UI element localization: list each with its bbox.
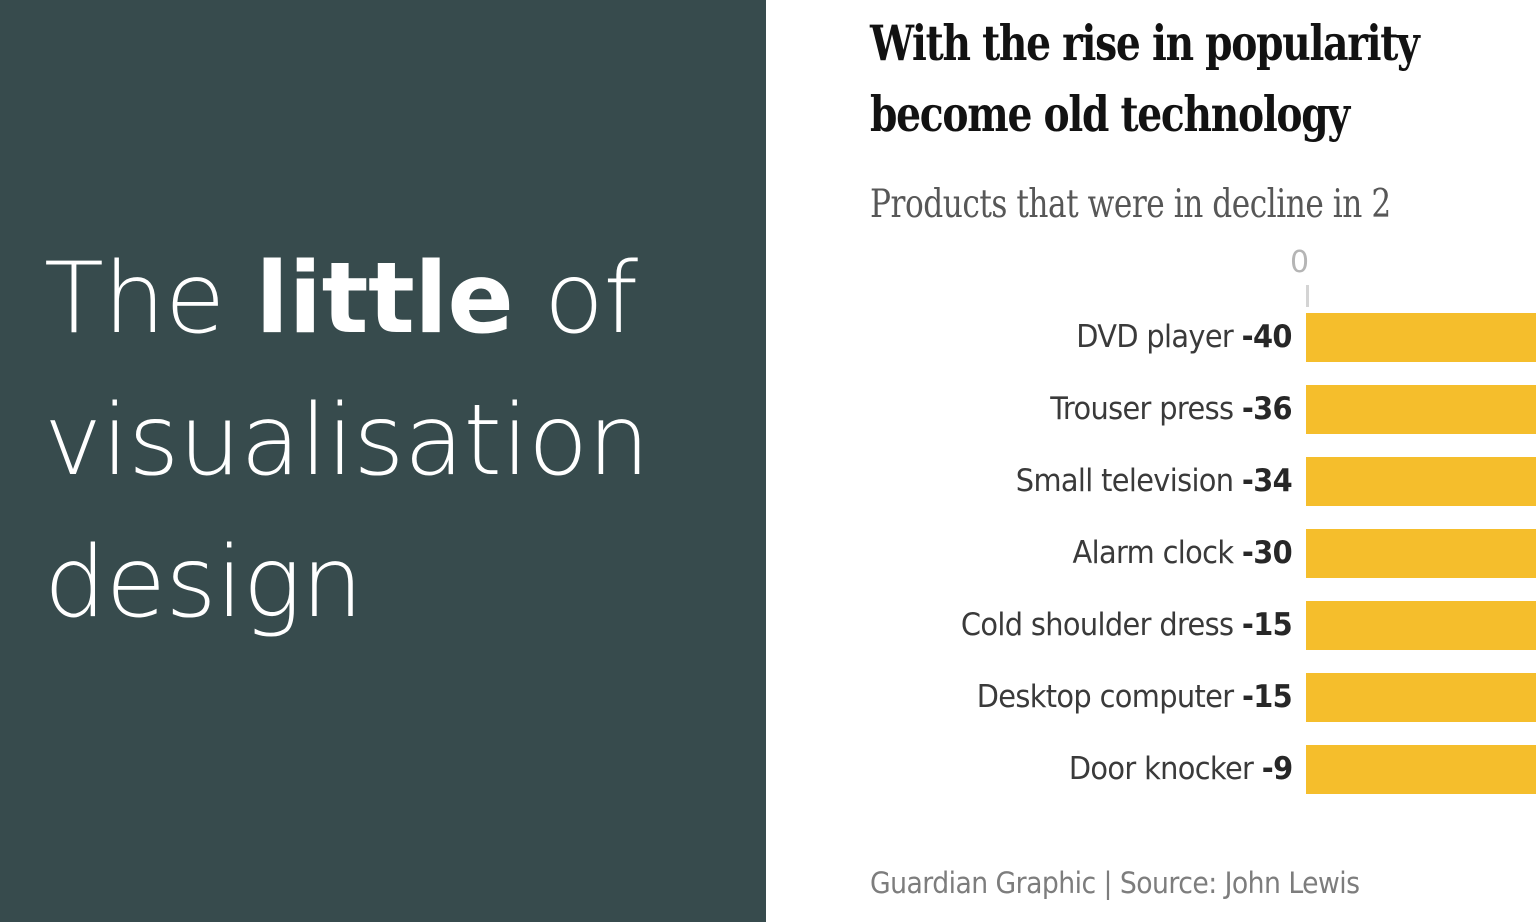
chart-headline-line-1: With the rise in popularity [870,8,1536,79]
x-axis-tick-mark [1306,285,1309,307]
book-title: The little of visualisation design [44,228,734,654]
bar-category-name: Small television [1016,463,1242,499]
bar-category-name: DVD player [1076,319,1241,355]
bar-row[interactable]: DVD player -40 [766,313,1536,362]
bar-row-label: Cold shoulder dress -15 [961,601,1292,650]
bar-value-label: -15 [1242,607,1292,643]
bar-row[interactable]: Alarm clock -30 [766,529,1536,578]
chart-headline-line-2: become old technology [870,79,1536,150]
bar-track [1306,745,1536,794]
bar-track [1306,673,1536,722]
bar-track [1306,313,1536,362]
bar-row[interactable]: Trouser press -36 [766,385,1536,434]
bar-value-label: -9 [1261,751,1292,787]
bar-value-label: -40 [1242,319,1292,355]
bar-fill[interactable] [1306,601,1536,650]
bar-category-name: Cold shoulder dress [961,607,1242,643]
bar-row[interactable]: Door knocker -9 [766,745,1536,794]
chart-subtitle: Products that were in decline in 2 [870,182,1536,229]
bar-row[interactable]: Desktop computer -15 [766,673,1536,722]
bar-track [1306,601,1536,650]
bar-value-label: -30 [1242,535,1292,571]
bar-row-label: Trouser press -36 [1050,385,1292,434]
bar-fill[interactable] [1306,457,1536,506]
book-title-part-0: The [44,242,255,356]
bar-fill[interactable] [1306,313,1536,362]
x-axis-tick-label-zero: 0 [1290,248,1309,278]
bar-row-label: Alarm clock -30 [1072,529,1292,578]
bar-row-label: Door knocker -9 [1068,745,1292,794]
bar-row-label: Desktop computer -15 [977,673,1292,722]
bar-category-name: Alarm clock [1072,535,1241,571]
bar-category-name: Door knocker [1068,751,1261,787]
bar-category-name: Trouser press [1050,391,1242,427]
bar-row-label: Small television -34 [1016,457,1292,506]
bar-fill[interactable] [1306,673,1536,722]
chart-headline: With the rise in popularitybecome old te… [870,8,1536,149]
left-title-panel: The little of visualisation design [0,0,766,922]
bar-fill[interactable] [1306,745,1536,794]
bar-value-label: -34 [1242,463,1292,499]
bar-value-label: -36 [1242,391,1292,427]
bar-track [1306,385,1536,434]
book-title-part-1: little [255,242,513,356]
chart-source-footer: Guardian Graphic | Source: John Lewis [870,866,1360,900]
bar-track [1306,529,1536,578]
slide-root: The little of visualisation design With … [0,0,1536,922]
bar-fill[interactable] [1306,385,1536,434]
bar-rows: DVD player -40Trouser press -36Small tel… [766,313,1536,817]
chart-panel: With the rise in popularitybecome old te… [766,0,1536,922]
bar-fill[interactable] [1306,529,1536,578]
bar-row[interactable]: Cold shoulder dress -15 [766,601,1536,650]
bar-row[interactable]: Small television -34 [766,457,1536,506]
bar-category-name: Desktop computer [977,679,1242,715]
bar-value-label: -15 [1242,679,1292,715]
bar-track [1306,457,1536,506]
bar-row-label: DVD player -40 [1076,313,1292,362]
